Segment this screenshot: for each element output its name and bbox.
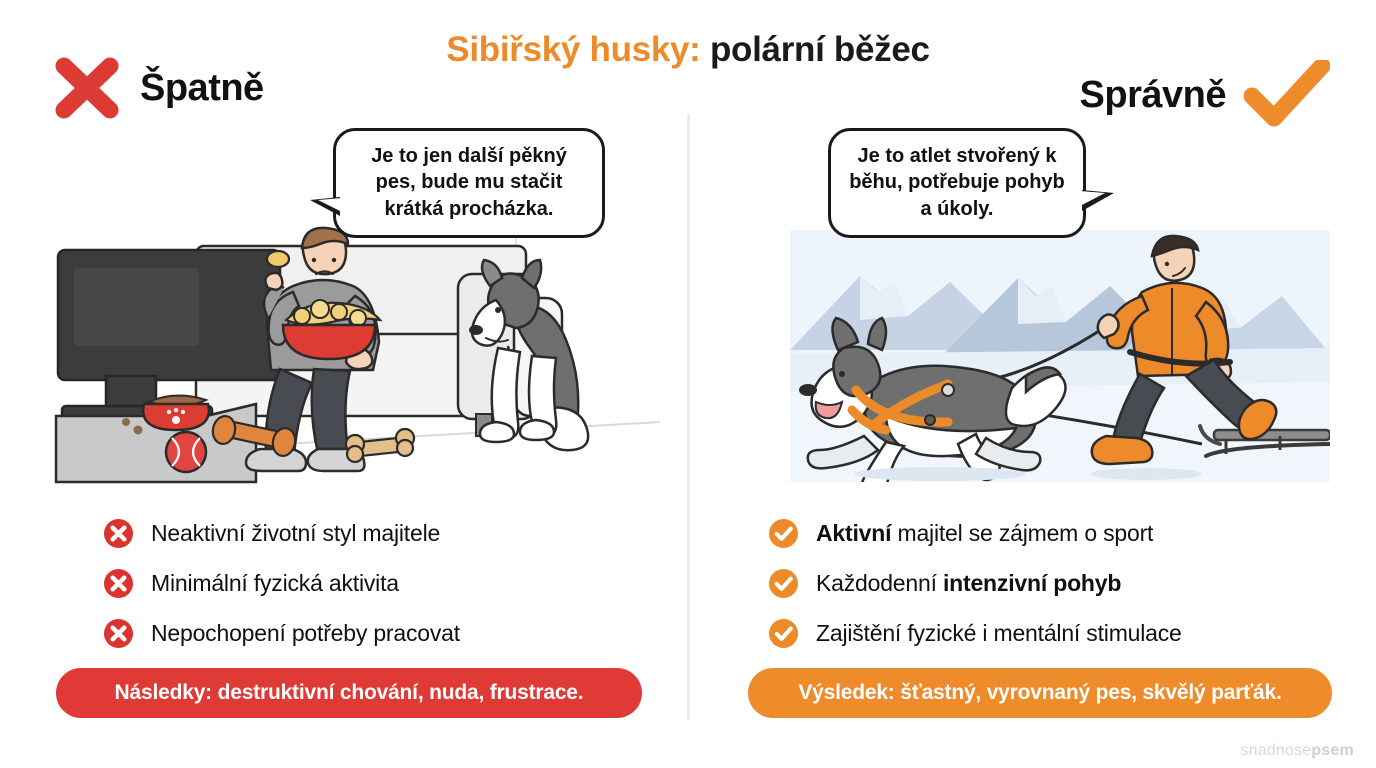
verdict-bad: Špatně: [52, 55, 264, 121]
illustration-active-lifestyle: [790, 230, 1330, 482]
watermark-light: snadnose: [1240, 742, 1311, 759]
verdict-good-label: Správně: [1080, 74, 1226, 117]
infographic-page: Sibiřský husky: polární běžec Špatně Spr…: [0, 0, 1376, 768]
check-circle-icon: [768, 568, 799, 599]
list-item: Aktivní majitel se zájmem o sport: [768, 508, 1348, 558]
page-title-highlight: Sibiřský husky:: [446, 30, 700, 69]
list-item-emphasis: Aktivní: [816, 520, 891, 546]
list-item-label: Aktivní majitel se zájmem o sport: [816, 520, 1153, 547]
speech-bubble-good-tail-inner: [1080, 191, 1105, 206]
bone-toy-shape: [346, 429, 414, 462]
ball-toy-shape: [166, 432, 206, 472]
x-circle-icon: [103, 618, 134, 649]
verdict-bad-label: Špatně: [140, 67, 264, 110]
column-divider: [687, 114, 690, 720]
illustration-inactive-lifestyle: [46, 226, 660, 484]
list-item: Zajištění fyzické i mentální stimulace: [768, 608, 1348, 658]
consequence-banner: Následky: destruktivní chování, nuda, fr…: [56, 668, 642, 718]
list-item-label: Zajištění fyzické i mentální stimulace: [816, 620, 1182, 647]
list-item-label: Každodenní intenzivní pohyb: [816, 570, 1121, 597]
check-mark-icon: [1244, 60, 1330, 130]
watermark-bold: psem: [1311, 742, 1354, 759]
illustration-inactive-svg: [46, 226, 660, 484]
verdict-good: Správně: [1080, 60, 1330, 130]
list-item: Minimální fyzická aktivita: [103, 558, 663, 608]
bullet-list-negative: Neaktivní životní styl majitele Minimáln…: [103, 508, 663, 658]
list-item-emphasis: intenzivní pohyb: [943, 570, 1121, 596]
list-item-rest: Každodenní: [816, 570, 943, 596]
list-item: Nepochopení potřeby pracovat: [103, 608, 663, 658]
bullet-list-positive: Aktivní majitel se zájmem o sport Každod…: [768, 508, 1348, 658]
list-item-rest: majitel se zájmem o sport: [891, 520, 1153, 546]
list-item: Každodenní intenzivní pohyb: [768, 558, 1348, 608]
result-banner: Výsledek: šťastný, vyrovnaný pes, skvělý…: [748, 668, 1332, 718]
page-title-rest: polární běžec: [701, 30, 930, 69]
speech-bubble-good: Je to atlet stvořený k běhu, potřebuje p…: [828, 128, 1086, 238]
x-circle-icon: [103, 518, 134, 549]
check-circle-icon: [768, 518, 799, 549]
speech-bubble-bad-tail-inner: [318, 198, 342, 212]
list-item: Neaktivní životní styl majitele: [103, 508, 663, 558]
list-item-label: Nepochopení potřeby pracovat: [151, 620, 460, 647]
check-circle-icon: [768, 618, 799, 649]
x-mark-icon: [52, 55, 122, 121]
watermark: snadnosepsem: [1240, 742, 1354, 760]
list-item-label: Minimální fyzická aktivita: [151, 570, 399, 597]
dog-bowl-shape: [143, 395, 209, 430]
list-item-label: Neaktivní životní styl majitele: [151, 520, 440, 547]
x-circle-icon: [103, 568, 134, 599]
illustration-active-svg: [790, 230, 1330, 482]
speech-bubble-bad: Je to jen další pěkný pes, bude mu stači…: [333, 128, 605, 238]
